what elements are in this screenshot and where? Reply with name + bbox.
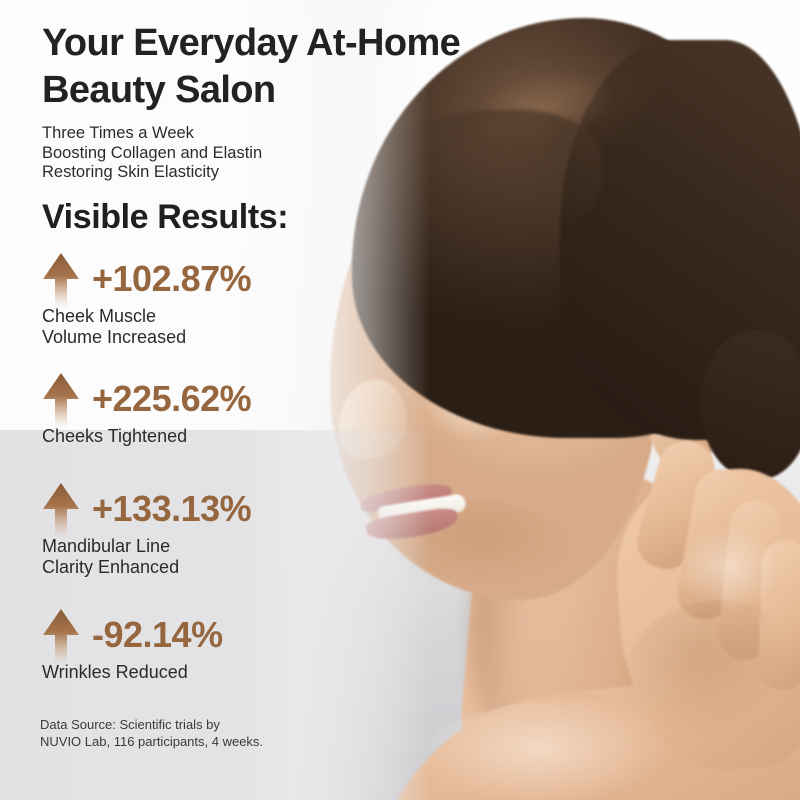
subtitle-line-2: Boosting Collagen and Elastin — [42, 144, 342, 164]
stat-label-line-1: Cheeks Tightened — [42, 426, 342, 447]
headline-line-1: Your Everyday At-Home — [42, 20, 512, 67]
stat-label-line-1: Wrinkles Reduced — [42, 662, 342, 683]
stat-value: +102.87% — [92, 258, 251, 300]
subtitle: Three Times a Week Boosting Collagen and… — [42, 124, 342, 183]
up-arrow-icon — [42, 252, 80, 308]
stat-label-line-2: Clarity Enhanced — [42, 557, 342, 578]
stat-value: +225.62% — [92, 378, 251, 420]
results-section-title: Visible Results: — [42, 198, 288, 237]
stat-block: +133.13% Mandibular Line Clarity Enhance… — [42, 482, 342, 578]
stat-value: -92.14% — [92, 614, 223, 656]
up-arrow-icon — [42, 372, 80, 428]
headline-line-2: Beauty Salon — [42, 67, 512, 114]
stat-row: +225.62% — [42, 372, 342, 430]
stat-label-line-2: Volume Increased — [42, 327, 342, 348]
stat-label: Mandibular Line Clarity Enhanced — [42, 536, 342, 578]
text-content: Your Everyday At-Home Beauty Salon Three… — [0, 0, 800, 800]
stat-label-line-1: Cheek Muscle — [42, 306, 342, 327]
footnote-line-2: NUVIO Lab, 116 participants, 4 weeks. — [40, 733, 340, 750]
stat-label: Cheeks Tightened — [42, 426, 342, 447]
up-arrow-icon — [42, 608, 80, 664]
subtitle-line-1: Three Times a Week — [42, 124, 342, 144]
data-source-footnote: Data Source: Scientific trials by NUVIO … — [40, 716, 340, 750]
stat-row: +102.87% — [42, 252, 342, 310]
subtitle-line-3: Restoring Skin Elasticity — [42, 163, 342, 183]
stat-block: +102.87% Cheek Muscle Volume Increased — [42, 252, 342, 348]
page-title: Your Everyday At-Home Beauty Salon — [42, 20, 512, 114]
stat-label: Cheek Muscle Volume Increased — [42, 306, 342, 348]
stat-label-line-1: Mandibular Line — [42, 536, 342, 557]
stat-row: +133.13% — [42, 482, 342, 540]
promo-infographic: Your Everyday At-Home Beauty Salon Three… — [0, 0, 800, 800]
stat-value: +133.13% — [92, 488, 251, 530]
stat-block: -92.14% Wrinkles Reduced — [42, 608, 342, 683]
footnote-line-1: Data Source: Scientific trials by — [40, 716, 340, 733]
stat-label: Wrinkles Reduced — [42, 662, 342, 683]
stat-block: +225.62% Cheeks Tightened — [42, 372, 342, 447]
stat-row: -92.14% — [42, 608, 342, 666]
up-arrow-icon — [42, 482, 80, 538]
